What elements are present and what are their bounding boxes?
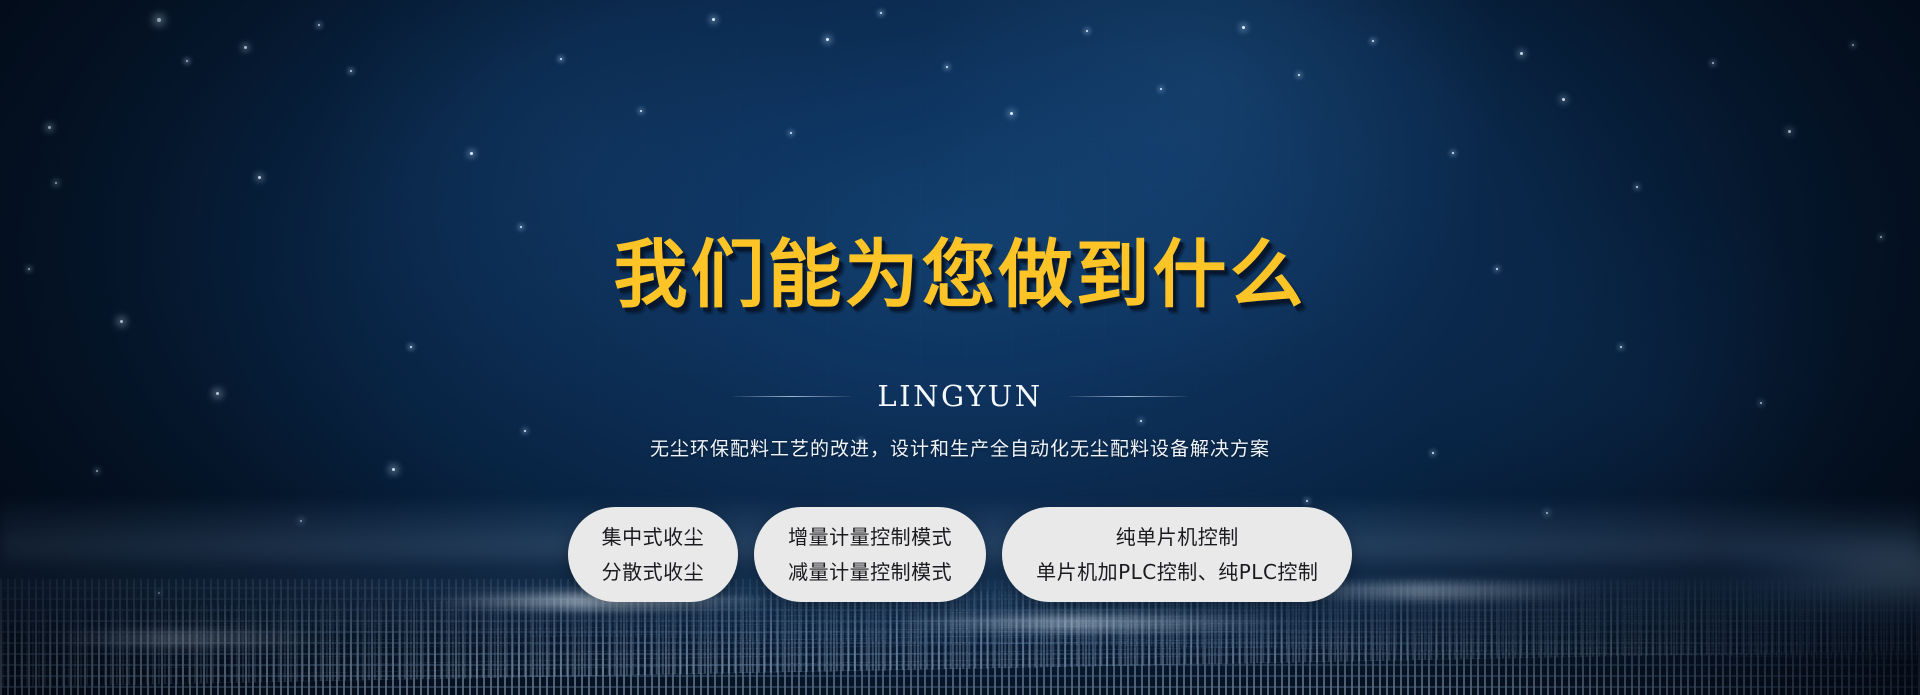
page-description: 无尘环保配料工艺的改进，设计和生产全自动化无尘配料设备解决方案: [650, 434, 1270, 461]
pill-line-primary: 增量计量控制模式: [788, 526, 952, 548]
pill-line-secondary: 减量计量控制模式: [788, 561, 952, 583]
divider-rule-right: [1069, 396, 1187, 397]
feature-pill-control-system[interactable]: 纯单片机控制 单片机加PLC控制、纯PLC控制: [1002, 507, 1352, 602]
banner-content: 我们能为您做到什么 LINGYUN 无尘环保配料工艺的改进，设计和生产全自动化无…: [0, 0, 1920, 695]
pill-line-secondary: 分散式收尘: [602, 561, 705, 583]
brand-subtitle: LINGYUN: [877, 379, 1042, 413]
page-title: 我们能为您做到什么: [614, 238, 1307, 312]
feature-pill-list: 集中式收尘 分散式收尘 增量计量控制模式 减量计量控制模式 纯单片机控制 单片机…: [568, 507, 1353, 602]
pill-line-secondary: 单片机加PLC控制、纯PLC控制: [1036, 561, 1318, 583]
feature-pill-dust-collection[interactable]: 集中式收尘 分散式收尘: [568, 507, 739, 602]
pill-line-primary: 纯单片机控制: [1116, 526, 1239, 548]
subtitle-row: LINGYUN: [733, 379, 1186, 413]
pill-line-primary: 集中式收尘: [602, 526, 705, 548]
feature-pill-metering-mode[interactable]: 增量计量控制模式 减量计量控制模式: [754, 507, 986, 602]
hero-banner: 我们能为您做到什么 LINGYUN 无尘环保配料工艺的改进，设计和生产全自动化无…: [0, 0, 1920, 695]
divider-rule-left: [733, 396, 851, 397]
